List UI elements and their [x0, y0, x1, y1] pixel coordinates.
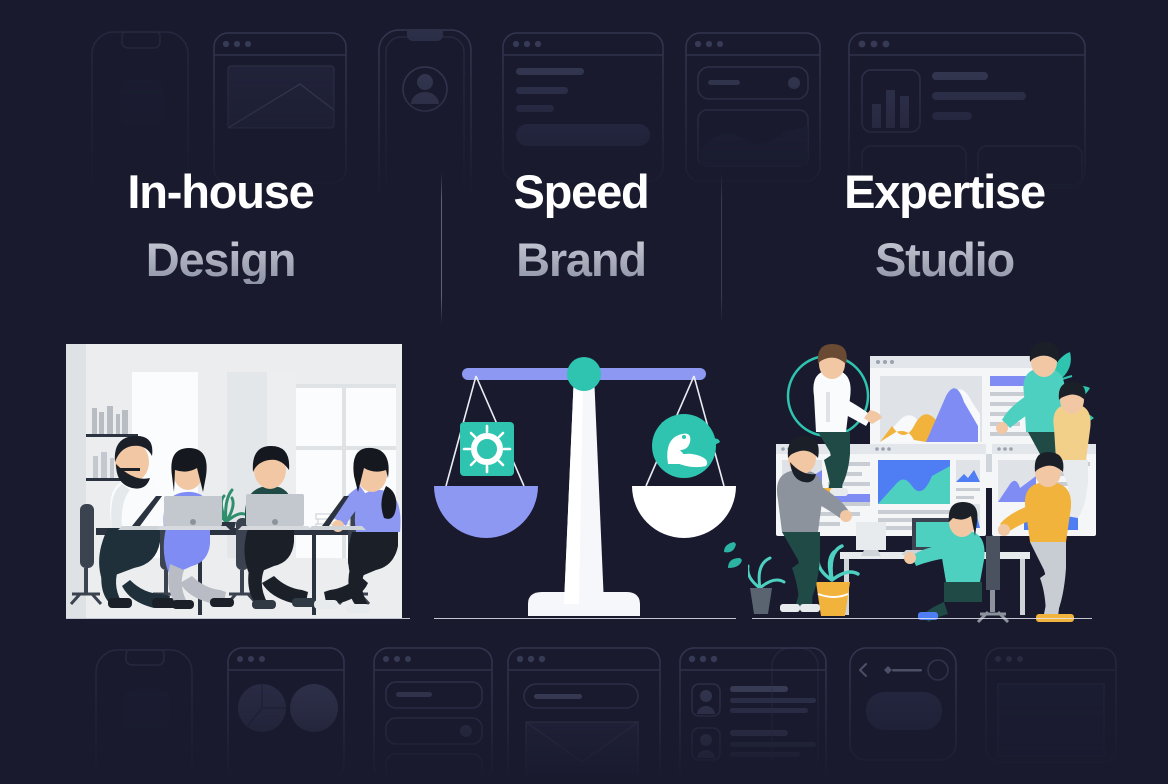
ground-line: [752, 618, 1092, 619]
column-heading-speed-brand: Speed Brand: [441, 168, 721, 328]
column-subtitle: Design: [146, 236, 296, 284]
column-subtitle: Brand: [516, 236, 646, 284]
column-heading-expertise-studio: Expertise Studio: [721, 168, 1168, 328]
pan-icon-aperture: [460, 422, 514, 476]
ground-line: [66, 618, 410, 619]
column-heading-in-house-design: In-house Design: [0, 168, 441, 328]
ground-line: [434, 618, 736, 619]
poster-canvas: In-house Design Speed Brand Expertise St…: [0, 0, 1168, 784]
wireframe-browser-search: [686, 33, 820, 181]
laptop: [238, 494, 312, 530]
illustration-team-dashboards: [748, 336, 1096, 628]
column-title: In-house: [127, 168, 313, 216]
wireframe-browser-list-rows: [374, 648, 492, 780]
wireframe-browser-search-envelope: [508, 648, 660, 784]
illustration-office-team-laptops: [60, 336, 408, 628]
wireframe-avatar-icon: [403, 67, 447, 111]
wireframe-phone-outline: [772, 648, 818, 778]
wireframe-phone-outline: [96, 650, 192, 784]
back-arrow-icon: [860, 664, 866, 676]
wireframe-browser-pie-charts: [228, 648, 344, 778]
wireframe-browser-contact-list: [680, 648, 826, 784]
pan-icon-swan: [652, 414, 720, 478]
background-wireframes-bottom: [0, 628, 1168, 784]
column-subtitle: Studio: [875, 236, 1014, 284]
wireframe-bars: [872, 90, 909, 128]
wireframe-browser-blank-panel: [986, 648, 1116, 762]
leaf-flourish: [724, 542, 742, 568]
column-title: Expertise: [844, 168, 1045, 216]
wireframe-browser-text-lines: [503, 33, 663, 181]
column-title: Speed: [513, 168, 648, 216]
wireframe-browser-image: [214, 33, 346, 183]
plant-teal: [748, 558, 784, 614]
wireframe-browser-back-urlbar: [850, 648, 956, 760]
laptop: [156, 496, 230, 530]
illustrations-row: [0, 336, 1168, 628]
headings-row: In-house Design Speed Brand Expertise St…: [0, 168, 1168, 328]
illustration-balance-scale: [424, 336, 744, 628]
